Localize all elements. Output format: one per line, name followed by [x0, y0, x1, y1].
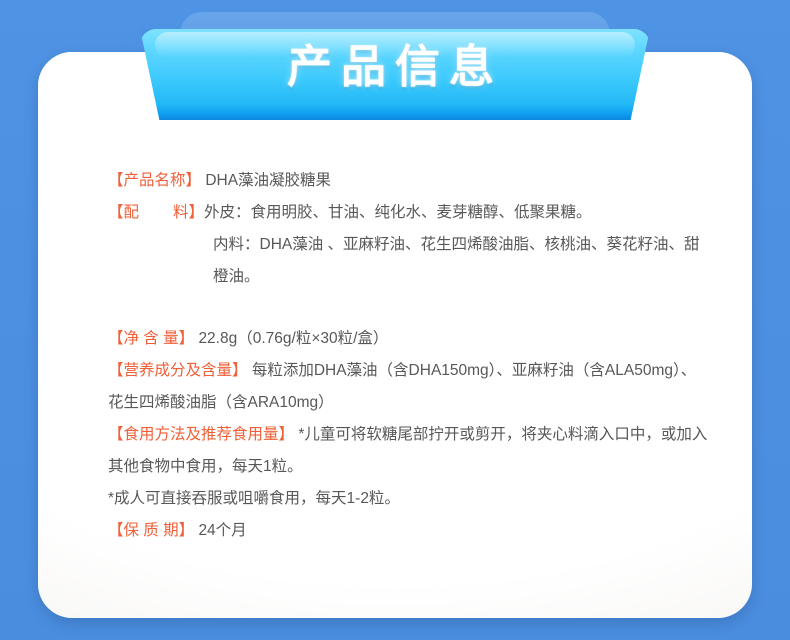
- row-usage: 【食用方法及推荐食用量】 *儿童可将软糖尾部拧开或剪开，将夹心料滴入口中，或加入…: [108, 419, 708, 483]
- page-title: 产品信息: [0, 30, 790, 95]
- label-ingredients-close: 】: [189, 204, 205, 221]
- product-info-page: 产品信息 【产品名称】 DHA藻油凝胶糖果 【配料】外皮：食用明胶、甘油、纯化水…: [0, 0, 790, 640]
- value-net-content: 22.8g（0.76g/粒×30粒/盒）: [198, 330, 388, 347]
- label-product-name: 【产品名称】: [108, 172, 201, 189]
- row-shelf-life: 【保 质 期】 24个月: [108, 515, 708, 547]
- section-spacer: [108, 293, 708, 323]
- label-net-content: 【净 含 量】: [108, 330, 194, 347]
- value-ingredients-core: 内料：DHA藻油 、亚麻籽油、花生四烯酸油脂、核桃油、葵花籽油、甜橙油。: [108, 229, 708, 293]
- row-ingredients: 【配料】外皮：食用明胶、甘油、纯化水、麦芽糖醇、低聚果糖。: [108, 197, 708, 229]
- value-usage-note: *成人可直接吞服或咀嚼食用，每天1-2粒。: [108, 483, 708, 515]
- label-usage: 【食用方法及推荐食用量】: [108, 426, 294, 443]
- label-ingredients: 【配料】: [108, 197, 204, 229]
- label-ingredients-open: 【: [108, 204, 124, 221]
- label-nutrition: 【营养成分及含量】: [108, 362, 248, 379]
- label-shelf-life: 【保 质 期】: [108, 522, 194, 539]
- row-net-content: 【净 含 量】 22.8g（0.76g/粒×30粒/盒）: [108, 323, 708, 355]
- row-product-name: 【产品名称】 DHA藻油凝胶糖果: [108, 165, 708, 197]
- value-product-name: DHA藻油凝胶糖果: [205, 172, 331, 189]
- label-ingredients-char-b: 料: [173, 204, 189, 221]
- product-info-list: 【产品名称】 DHA藻油凝胶糖果 【配料】外皮：食用明胶、甘油、纯化水、麦芽糖醇…: [108, 165, 708, 547]
- value-shelf-life: 24个月: [198, 522, 246, 539]
- value-ingredients-shell: 外皮：食用明胶、甘油、纯化水、麦芽糖醇、低聚果糖。: [204, 204, 592, 221]
- row-nutrition: 【营养成分及含量】 每粒添加DHA藻油（含DHA150mg）、亚麻籽油（含ALA…: [108, 355, 708, 419]
- label-ingredients-char-a: 配: [124, 204, 140, 221]
